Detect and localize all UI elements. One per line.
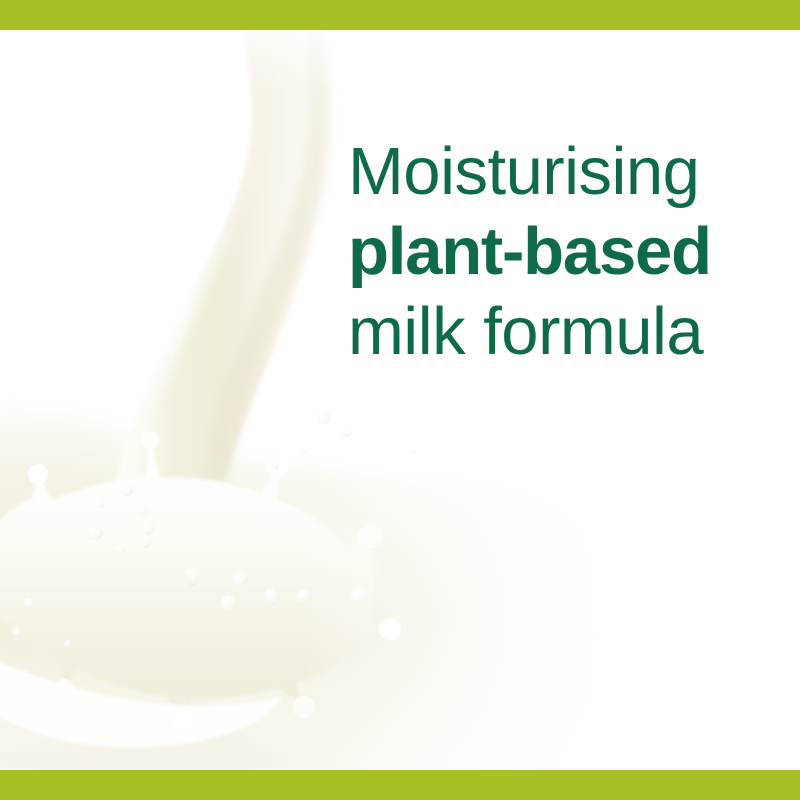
milk-stream-icon	[40, 30, 370, 700]
milk-pool-left	[0, 410, 260, 750]
milk-pool-base	[0, 460, 620, 770]
milk-droplet	[116, 545, 125, 553]
milk-droplet	[342, 428, 352, 437]
milk-droplet	[142, 536, 151, 548]
milk-droplet	[96, 500, 105, 508]
milk-droplet	[143, 520, 154, 535]
photo-top-fade	[0, 30, 800, 90]
milk-droplet	[24, 598, 34, 607]
milk-droplet	[120, 485, 133, 496]
milk-droplet	[264, 588, 277, 606]
headline-line-3: milk formula	[348, 298, 778, 378]
milk-droplet	[297, 590, 311, 603]
promo-banner: Moisturising plant-based milk formula	[0, 0, 800, 800]
headline-line-2: plant-based	[348, 218, 778, 298]
milk-pool-right	[180, 485, 700, 770]
milk-droplet	[185, 566, 199, 586]
milk-splash-crown-icon	[0, 430, 520, 760]
milk-droplet	[299, 447, 308, 455]
milk-droplet	[232, 572, 248, 586]
milk-droplet	[316, 412, 331, 424]
milk-droplet	[140, 508, 148, 515]
milk-droplet	[12, 628, 21, 636]
milk-droplet	[272, 463, 279, 469]
headline-line-1: Moisturising	[348, 138, 778, 218]
milk-droplet	[86, 527, 103, 540]
bottom-accent-rule	[0, 770, 800, 800]
headline-block: Moisturising plant-based milk formula	[348, 138, 778, 378]
milk-droplet	[410, 448, 416, 454]
milk-droplet	[351, 588, 367, 603]
milk-droplet	[221, 595, 237, 611]
top-accent-rule	[0, 0, 800, 30]
milk-droplet	[64, 640, 72, 647]
